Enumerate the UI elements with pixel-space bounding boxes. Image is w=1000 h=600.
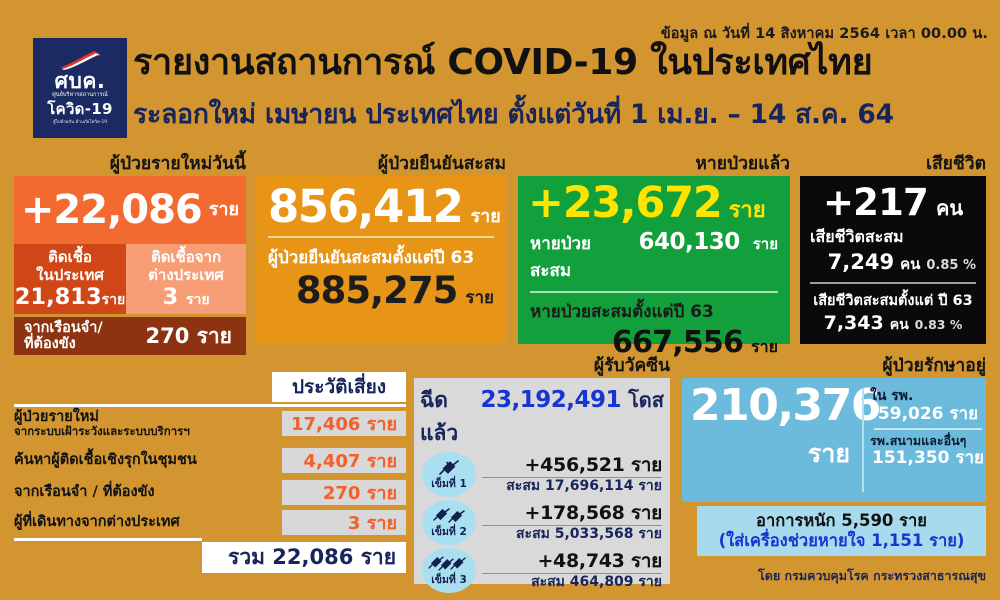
card-recovered: +23,672 ราย หายป่วยสะสม 640,130 ราย หายป… [518, 176, 790, 344]
panel-vaccination: ฉีดแล้ว 23,192,491 โดส เข็มที่ 1 [414, 378, 670, 584]
treating-total-value: 210,376 [690, 384, 850, 428]
risk-row-3: ผู้ที่เดินทางจากต่างประเทศ 3 ราย [14, 508, 406, 537]
vaccine-total-value: 23,192,491 [481, 387, 622, 413]
dose-2-badge: เข็มที่ 2 [422, 500, 476, 545]
new-cases-total: +22,086 ราย [14, 176, 246, 244]
risk-label-1: ค้นหาผู้ติดเชื้อเชิงรุกในชุมชน [14, 452, 274, 468]
prison-value: 270 ราย [145, 320, 236, 353]
risk-value-0: 17,406 ราย [282, 411, 406, 436]
risk-total-value: รวม 22,086 ราย [228, 541, 396, 574]
recovered-since63-label: หายป่วยสะสมตั้งแต่ปี 63 [518, 293, 790, 325]
new-cases-local-label-line1: ติดเชื้อ [14, 249, 126, 267]
recovered-cum-label: หายป่วยสะสม [530, 230, 625, 284]
risk-history-title-box: ประวัติเสี่ยง [272, 372, 406, 402]
cumulative-since63-unit: ราย [465, 284, 494, 311]
new-cases-abroad-label-line2: ต่างประเทศ [126, 267, 246, 285]
cumulative-unit: ราย [470, 201, 500, 230]
divider [14, 538, 202, 541]
treating-caption: ผู้ป่วยรักษาอยู่ [682, 358, 986, 376]
cumulative-since63-value: 885,275 [296, 272, 458, 311]
ventilator-cases-line: (ใส่เครื่องช่วยหายใจ 1,151 ราย) [719, 531, 965, 552]
risk-label-0: ผู้ป่วยรายใหม่ [14, 409, 274, 425]
dose-3-label: เข็มที่ 3 [431, 575, 467, 586]
treating-hospital-value: 59,026 ราย [870, 404, 986, 424]
risk-row-2: จากเรือนจำ / ที่ต้องขัง 270 ราย [14, 478, 406, 507]
severe-cases-line: อาการหนัก 5,590 ราย [756, 511, 927, 531]
logo-covid-text: โควิด-19 [47, 100, 112, 119]
syringe-icon [432, 508, 466, 526]
page-title: รายงานสถานการณ์ COVID-19 ในประเทศไทย [133, 44, 988, 82]
deaths-since63-percent: 0.83 % [915, 317, 963, 332]
divider [874, 428, 982, 430]
cccsa-logo: ศบค. ศูนย์บริหารสถานการณ์ โควิด-19 สู้ไป… [33, 38, 127, 138]
vaccine-footnote: ข้อมูล 28 ก.พ.- 13 ส.ค. 2564 [414, 594, 670, 600]
page-subtitle: ระลอกใหม่ เมษายน ประเทศไทย ตั้งแต่วันที่… [133, 100, 988, 129]
vaccine-total-row: ฉีดแล้ว 23,192,491 โดส [414, 378, 670, 450]
deaths-caption: เสียชีวิต [800, 156, 986, 174]
vaccine-dose-row-1: เข็มที่ 1 +456,521 ราย สะสม 17,696,114 ร… [414, 450, 670, 498]
logo-subtitle-1: ศูนย์บริหารสถานการณ์ [52, 92, 108, 100]
treating-hospital-label: ใน รพ. [870, 388, 986, 404]
risk-sublabel-0: จากระบบเฝ้าระวังและระบบบริการฯ [14, 425, 274, 438]
prison-label-line2: ที่ต้องขัง [24, 336, 103, 352]
new-cases-caption: ผู้ป่วยรายใหม่วันนี้ [14, 156, 246, 174]
new-cases-local: ติดเชื้อ ในประเทศ 21,813ราย [14, 244, 126, 314]
new-cases-total-value: +22,086 [21, 190, 202, 230]
recovered-cum-value: 640,130 [638, 229, 739, 255]
risk-history-title: ประวัติเสี่ยง [292, 372, 386, 402]
vaccine-total-label: ฉีดแล้ว [420, 384, 474, 450]
dose-3-badge: เข็มที่ 3 [422, 548, 476, 593]
infographic-root: ข้อมูล ณ วันที่ 14 สิงหาคม 2564 เวลา 00.… [0, 0, 1000, 600]
deaths-cum-percent: 0.85 % [926, 258, 976, 273]
divider [14, 404, 406, 407]
deaths-today-value: +217 [823, 184, 928, 221]
recovered-cum-unit: ราย [753, 232, 778, 256]
treating-field-value: 151,350 ราย [870, 448, 986, 468]
deaths-since63-unit: คน [890, 314, 909, 336]
deaths-today-unit: คน [936, 192, 963, 224]
deaths-cum-value: 7,249 [828, 250, 894, 274]
syringe-icon [436, 460, 462, 478]
panel-severe-cases: อาการหนัก 5,590 ราย (ใส่เครื่องช่วยหายใจ… [697, 506, 986, 556]
new-cases-abroad-unit: ราย [186, 292, 210, 308]
card-new-cases: +22,086 ราย ติดเชื้อ ในประเทศ 21,813ราย … [14, 176, 246, 352]
recovered-since63-value: 667,556 [612, 325, 743, 360]
new-cases-local-label-line2: ในประเทศ [14, 267, 126, 285]
card-deaths: +217 คน เสียชีวิตสะสม 7,249 คน 0.85 % เส… [800, 176, 986, 344]
dose-1-cumulative: สะสม 17,696,114 ราย [482, 479, 662, 494]
deaths-since63-value: 7,343 [824, 312, 884, 334]
logo-subtitle-2: สู้ไปด้วยกัน ต้านภัยโควิด-19 [53, 120, 107, 126]
dose-2-cumulative: สะสม 5,033,568 ราย [482, 527, 662, 542]
risk-row-0: ผู้ป่วยรายใหม่ จากระบบเฝ้าระวังและระบบบร… [14, 409, 406, 438]
logo-abbreviation: ศบค. [55, 71, 106, 92]
deaths-cum-label: เสียชีวิตสะสม [800, 224, 986, 250]
risk-value-3: 3 ราย [282, 510, 406, 535]
dose-2-label: เข็มที่ 2 [431, 527, 467, 538]
new-cases-abroad-label-line1: ติดเชื้อจาก [126, 249, 246, 267]
new-cases-local-value: 21,813 [15, 284, 102, 310]
risk-label-2: จากเรือนจำ / ที่ต้องขัง [14, 484, 274, 500]
cumulative-since63-label: ผู้ป่วยยืนยันสะสมตั้งแต่ปี 63 [256, 238, 506, 271]
new-cases-abroad: ติดเชื้อจาก ต่างประเทศ 3 ราย [126, 244, 246, 314]
vaccine-caption: ผู้รับวัคซีน [414, 358, 670, 376]
new-cases-prison: จากเรือนจำ/ ที่ต้องขัง 270 ราย [14, 317, 246, 355]
recovered-today-unit: ราย [729, 192, 766, 227]
divider [862, 388, 864, 492]
thai-flag-ribbon-icon [54, 50, 106, 70]
new-cases-total-unit: ราย [209, 194, 239, 227]
risk-total-box: รวม 22,086 ราย [202, 542, 406, 573]
new-cases-abroad-value: 3 [162, 284, 178, 310]
deaths-cum-unit: คน [900, 252, 920, 276]
recovered-since63-unit: ราย [751, 335, 778, 360]
vaccine-total-unit: โดส [628, 384, 664, 416]
card-cumulative-confirmed: 856,412 ราย ผู้ป่วยยืนยันสะสมตั้งแต่ปี 6… [256, 176, 506, 344]
recovered-caption: หายป่วยแล้ว [518, 156, 790, 174]
treating-field-label: รพ.สนามและอื่นๆ [870, 434, 986, 448]
treating-total-unit: ราย [690, 434, 850, 474]
new-cases-local-unit: ราย [102, 292, 126, 308]
prison-label-line1: จากเรือนจำ/ [24, 320, 103, 336]
source-credit: โดย กรมควบคุมโรค กระทรวงสาธารณสุข [600, 566, 986, 586]
cumulative-value: 856,412 [268, 184, 462, 229]
risk-label-3: ผู้ที่เดินทางจากต่างประเทศ [14, 514, 274, 530]
syringe-icon [428, 556, 470, 574]
dose-1-badge: เข็มที่ 1 [422, 452, 476, 497]
panel-currently-treating: 210,376 ราย ใน รพ. 59,026 ราย รพ.สนามและ… [682, 378, 986, 502]
recovered-today-value: +23,672 [528, 182, 722, 225]
vaccine-dose-row-2: เข็มที่ 2 +178,568 ราย สะสม 5,033,568 รา… [414, 498, 670, 546]
risk-value-1: 4,407 ราย [282, 448, 406, 473]
dose-1-today: +456,521 ราย [482, 455, 662, 476]
dose-2-today: +178,568 ราย [482, 503, 662, 524]
cumulative-caption: ผู้ป่วยยืนยันสะสม [256, 156, 506, 174]
deaths-since63-label: เสียชีวิตสะสมตั้งแต่ ปี 63 [800, 284, 986, 312]
risk-value-2: 270 ราย [282, 480, 406, 505]
risk-row-1: ค้นหาผู้ติดเชื้อเชิงรุกในชุมชน 4,407 ราย [14, 446, 406, 475]
dose-1-label: เข็มที่ 1 [431, 479, 467, 490]
